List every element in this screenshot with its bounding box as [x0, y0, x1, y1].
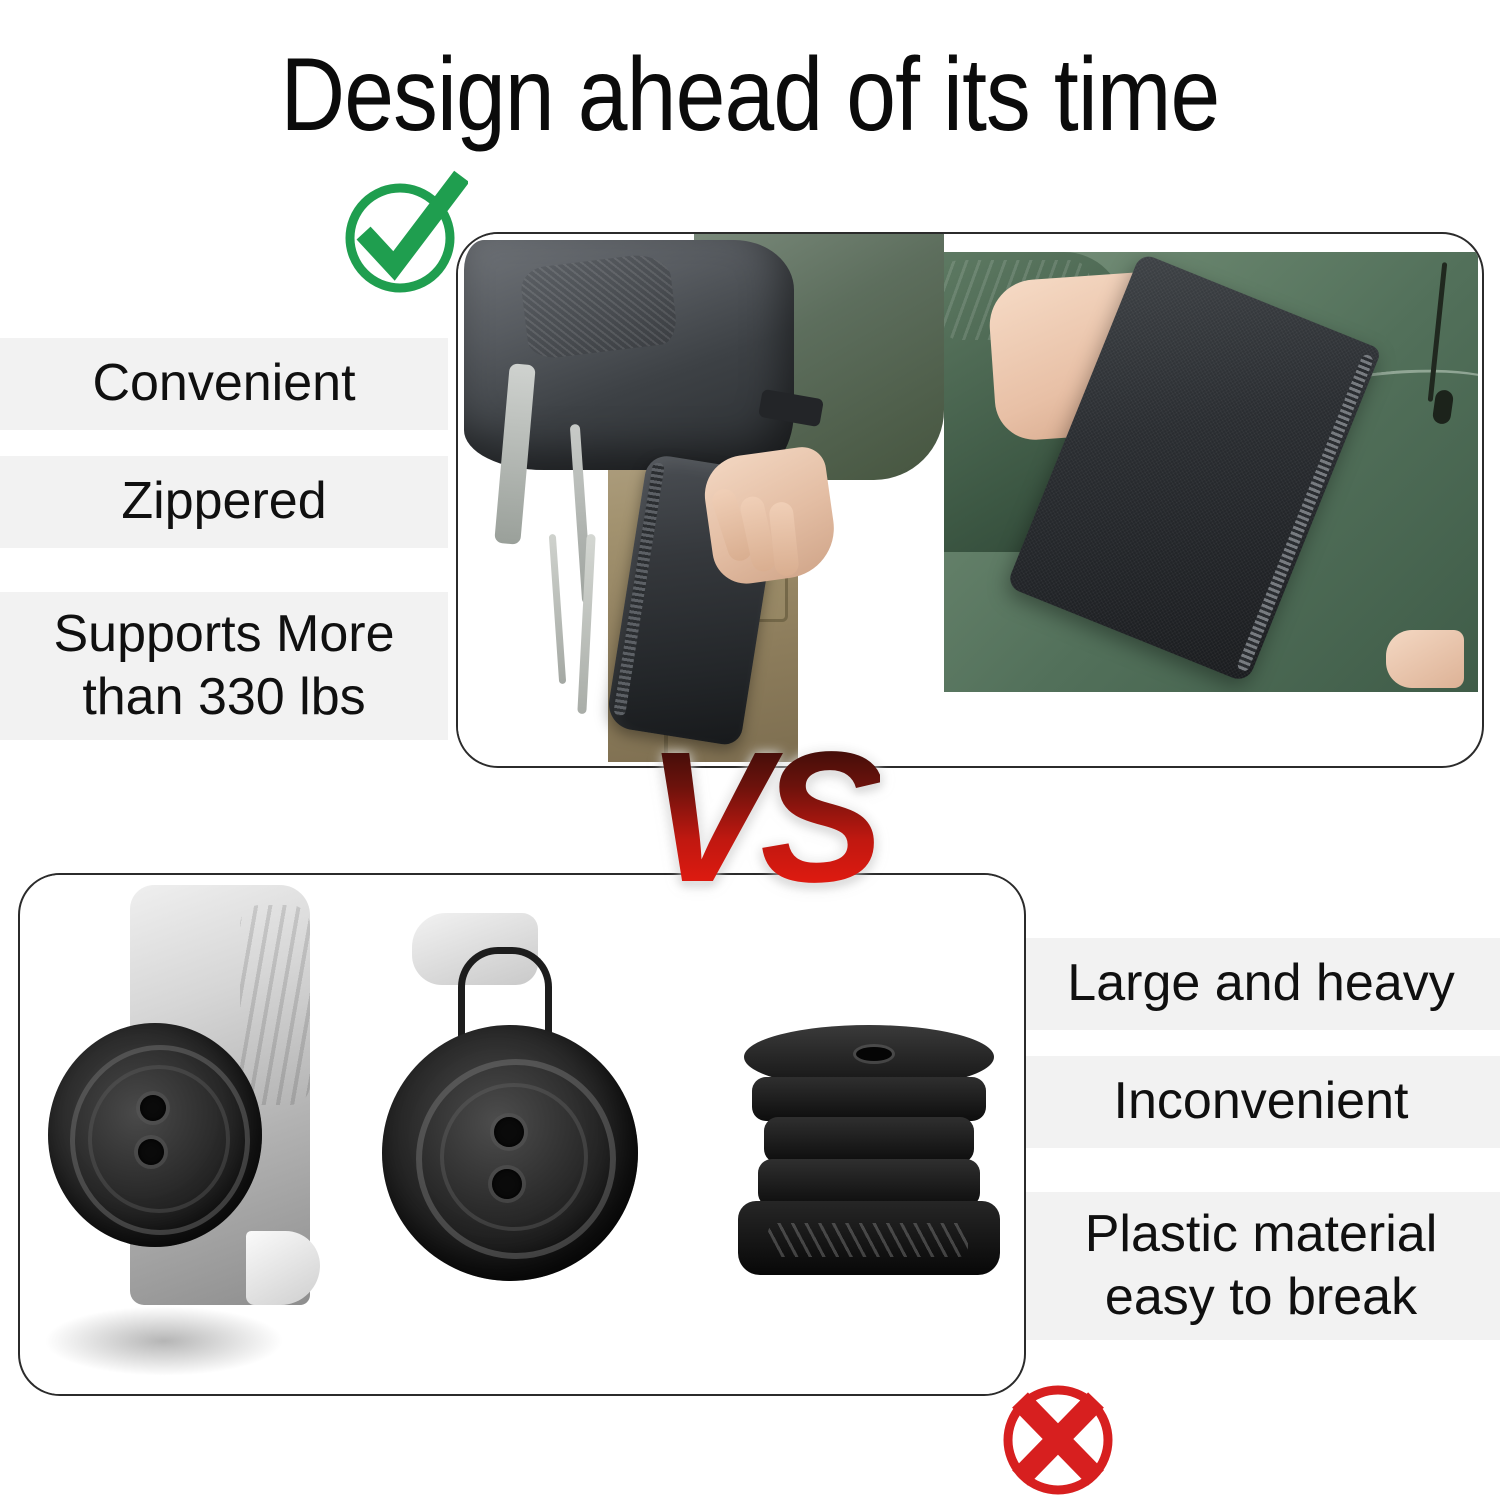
- feature-band-convenient: Convenient: [0, 338, 448, 430]
- check-circle-icon: [336, 168, 468, 300]
- stool-ring-inner: [440, 1083, 588, 1231]
- feature-band-inconvenient: Inconvenient: [1022, 1056, 1500, 1148]
- feature-label: Inconvenient: [1114, 1071, 1409, 1132]
- feature-label: Convenient: [92, 353, 355, 414]
- stool-base: [738, 1201, 1000, 1275]
- stool-tier-1: [752, 1077, 986, 1121]
- feature-band-supports-330lbs: Supports More than 330 lbs: [0, 592, 448, 740]
- fingers: [1386, 630, 1464, 688]
- page-title: Design ahead of its time: [105, 36, 1395, 155]
- feature-band-plastic-easy-to-break: Plastic material easy to break: [1022, 1192, 1500, 1340]
- ground-shadow: [44, 1306, 284, 1376]
- feature-label: Zippered: [121, 471, 326, 532]
- stool-carried-by-strap-photo: [372, 875, 708, 1394]
- feature-band-zippered: Zippered: [0, 456, 448, 548]
- stool-hole-upper: [140, 1095, 166, 1121]
- infographic-root: Design ahead of its time Convenient Zipp…: [0, 0, 1500, 1500]
- feature-label-line2: easy to break: [1105, 1268, 1417, 1326]
- hanging-strap-b: [549, 534, 566, 684]
- feature-label-line1: Supports More: [53, 605, 394, 663]
- stool-hole-upper: [494, 1117, 524, 1147]
- seat-center-hole: [856, 1047, 892, 1061]
- telescoping-stool: [738, 1025, 1000, 1275]
- feature-label-line2: than 330 lbs: [82, 668, 365, 726]
- bulky-stool-at-hip-photo: [34, 875, 358, 1394]
- stool-hole-lower: [138, 1139, 164, 1165]
- feature-label: Large and heavy: [1067, 953, 1454, 1014]
- pouch-into-jacket-pocket-photo: [944, 252, 1478, 692]
- stool-hole-lower: [492, 1169, 522, 1199]
- feature-label: Plastic material easy to break: [1085, 1203, 1438, 1330]
- collapsed-plastic-stool: [48, 1023, 262, 1247]
- stool-tier-2: [764, 1117, 974, 1163]
- base-grill-texture: [768, 1223, 968, 1257]
- stool-tier-3: [758, 1159, 980, 1207]
- bad-product-photo-panel: [18, 873, 1026, 1396]
- backpack-mesh-panel: [519, 251, 679, 361]
- stool-ring-inner: [88, 1065, 230, 1213]
- pouch-held-at-hip-photo: A: [458, 234, 944, 762]
- vs-label: VS: [640, 728, 880, 908]
- good-product-photo-panel: A: [456, 232, 1484, 768]
- telescoping-stool-photo: [720, 875, 1020, 1394]
- feature-label: Supports More than 330 lbs: [53, 603, 394, 730]
- feature-label-line1: Plastic material: [1085, 1205, 1438, 1263]
- collapsed-plastic-stool: [382, 1025, 638, 1281]
- feature-band-large-and-heavy: Large and heavy: [1022, 938, 1500, 1030]
- fabric-folds: [240, 905, 310, 1105]
